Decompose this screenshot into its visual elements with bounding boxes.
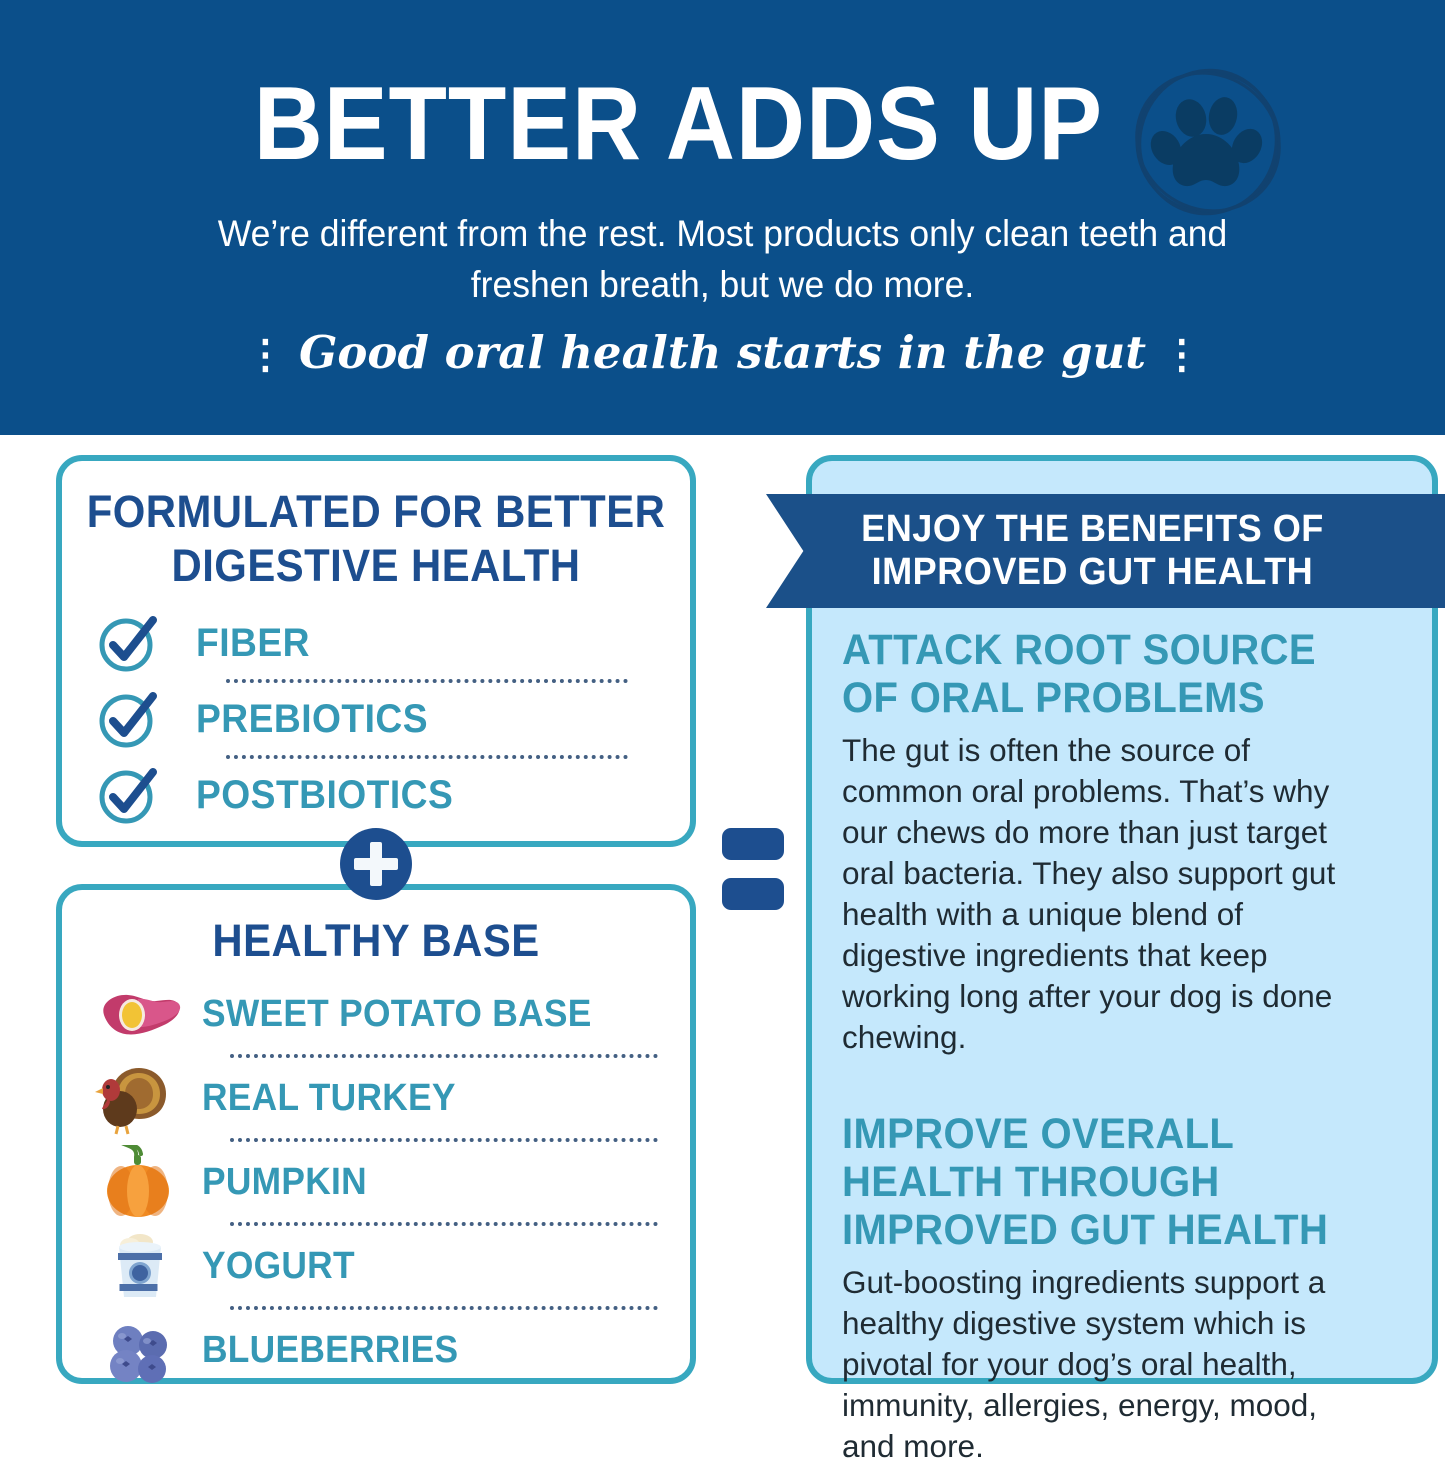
- list-item[interactable]: SWEET POTATO BASE: [92, 974, 664, 1054]
- list-item-label: REAL TURKEY: [202, 1077, 456, 1120]
- list-item[interactable]: FIBER: [96, 607, 656, 679]
- sweet-potato-icon: [92, 977, 184, 1051]
- script-right-flourish: ⋮: [1162, 333, 1200, 377]
- yogurt-cup-icon: [92, 1229, 184, 1303]
- check-circle-icon: [96, 612, 162, 674]
- ribbon-line-1: ENJOY THE BENEFITS OF: [861, 508, 1324, 551]
- script-text: Good oral health starts in the gut: [299, 326, 1146, 379]
- hero-header: BETTER ADDS UP We’re different from the …: [0, 0, 1445, 435]
- divider: [230, 1222, 658, 1226]
- benefits-content: ATTACK ROOT SOURCE OF ORAL PROBLEMS The …: [842, 626, 1372, 1467]
- benefit-body-text: The gut is often the source of common or…: [842, 730, 1372, 1058]
- plus-icon: [340, 828, 412, 900]
- list-item[interactable]: YOGURT: [92, 1226, 664, 1306]
- page-title: BETTER ADDS UP: [58, 72, 1387, 176]
- formulated-card-title: FORMULATED FOR BETTER DIGESTIVE HEALTH: [84, 485, 668, 593]
- check-circle-icon: [96, 764, 162, 826]
- list-item-label: PREBIOTICS: [196, 697, 428, 742]
- formulated-list: FIBER PREBIOTICS POSTBIOTICS: [62, 607, 690, 831]
- healthy-base-card: HEALTHY BASE SWEET POTATO BASE: [56, 884, 696, 1384]
- list-item-label: YOGURT: [202, 1245, 355, 1288]
- benefit-block: ATTACK ROOT SOURCE OF ORAL PROBLEMS The …: [842, 626, 1372, 1058]
- list-item[interactable]: PREBIOTICS: [96, 683, 656, 755]
- plus-bar-vertical: [370, 842, 382, 886]
- benefits-ribbon-text: ENJOY THE BENEFITS OF IMPROVED GUT HEALT…: [766, 494, 1445, 608]
- benefit-body-text: Gut-boosting ingredients support a healt…: [842, 1262, 1372, 1467]
- list-item-label: SWEET POTATO BASE: [202, 993, 592, 1036]
- blueberries-icon: [92, 1313, 184, 1387]
- hero-script-line: ⋮ Good oral health starts in the gut ⋮: [160, 327, 1285, 381]
- ribbon-line-2: IMPROVED GUT HEALTH: [872, 551, 1314, 594]
- pumpkin-icon: [92, 1145, 184, 1219]
- formulated-card: FORMULATED FOR BETTER DIGESTIVE HEALTH F…: [56, 455, 696, 847]
- list-item-label: BLUEBERRIES: [202, 1329, 458, 1372]
- list-item-label: POSTBIOTICS: [196, 773, 453, 818]
- equals-icon: [722, 828, 784, 910]
- divider: [230, 1306, 658, 1310]
- healthy-base-card-title: HEALTHY BASE: [84, 914, 668, 968]
- equals-bar-top: [722, 828, 784, 860]
- divider: [226, 755, 628, 759]
- benefit-heading: IMPROVE OVERALL HEALTH THROUGH IMPROVED …: [842, 1110, 1335, 1254]
- healthy-base-list: SWEET POTATO BASE REAL TURKEY: [62, 974, 690, 1390]
- divider: [226, 679, 628, 683]
- turkey-icon: [92, 1061, 184, 1135]
- list-item[interactable]: REAL TURKEY: [92, 1058, 664, 1138]
- list-item[interactable]: BLUEBERRIES: [92, 1310, 664, 1390]
- check-circle-icon: [96, 688, 162, 750]
- divider: [230, 1054, 658, 1058]
- hero-subtitle: We’re different from the rest. Most prod…: [183, 208, 1263, 310]
- benefit-block: IMPROVE OVERALL HEALTH THROUGH IMPROVED …: [842, 1110, 1372, 1467]
- divider: [230, 1138, 658, 1142]
- benefit-heading: ATTACK ROOT SOURCE OF ORAL PROBLEMS: [842, 626, 1335, 722]
- equals-bar-bottom: [722, 878, 784, 910]
- list-item[interactable]: POSTBIOTICS: [96, 759, 656, 831]
- script-left-flourish: ⋮: [245, 333, 283, 377]
- list-item-label: FIBER: [196, 621, 310, 666]
- list-item-label: PUMPKIN: [202, 1161, 367, 1204]
- list-item[interactable]: PUMPKIN: [92, 1142, 664, 1222]
